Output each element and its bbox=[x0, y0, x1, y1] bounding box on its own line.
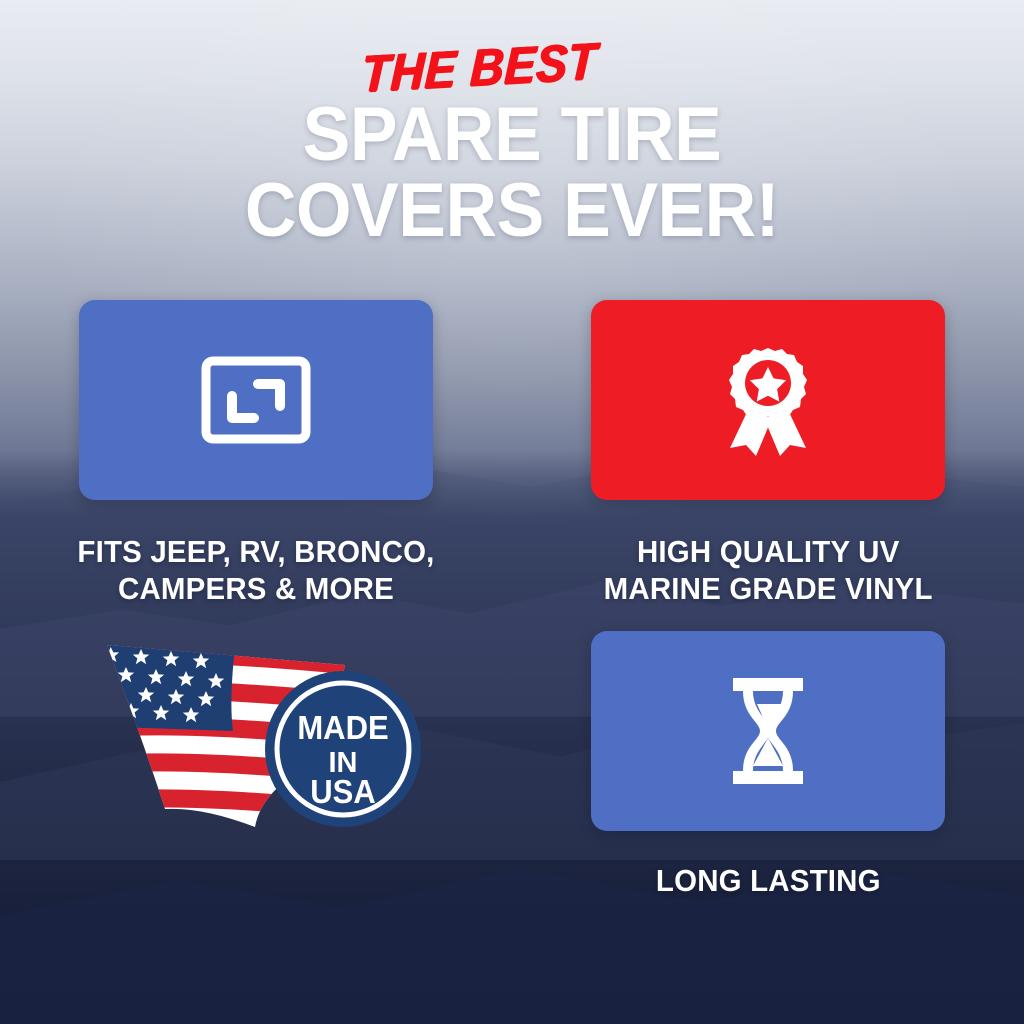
feature-caption-high-quality-vinyl: HIGH QUALITY UV MARINE GRADE VINYL bbox=[603, 534, 932, 607]
badge-line-3: USA bbox=[310, 773, 375, 810]
feature-high-quality-vinyl: HIGH QUALITY UV MARINE GRADE VINYL bbox=[512, 300, 1024, 607]
caption-line-1: FITS JEEP, RV, BRONCO, bbox=[77, 534, 434, 569]
feature-caption-long-lasting: LONG LASTING bbox=[656, 863, 881, 900]
headline-line-1: SPARE TIRE bbox=[31, 100, 994, 170]
feature-long-lasting: LONG LASTING bbox=[512, 631, 1024, 900]
headline-kicker: THE BEST bbox=[361, 35, 599, 100]
made-in-usa-badge-icon: MADE IN USA bbox=[263, 669, 423, 829]
caption-line-2: MARINE GRADE VINYL bbox=[603, 571, 932, 606]
resize-frame-icon bbox=[200, 355, 312, 445]
feature-grid: FITS JEEP, RV, BRONCO, CAMPERS & MORE HI… bbox=[0, 300, 1024, 900]
caption-line-2: CAMPERS & MORE bbox=[118, 571, 394, 606]
made-in-usa-group: MADE IN USA bbox=[79, 631, 433, 831]
award-ribbon-icon bbox=[716, 344, 820, 456]
headline-block: THE BEST SPARE TIRE COVERS EVER! bbox=[0, 44, 1024, 246]
feature-fits-vehicles: FITS JEEP, RV, BRONCO, CAMPERS & MORE bbox=[0, 300, 512, 607]
caption-line-1: LONG LASTING bbox=[656, 863, 881, 898]
feature-made-in-usa: MADE IN USA bbox=[0, 631, 512, 900]
feature-card-long-lasting bbox=[591, 631, 945, 831]
badge-line-1: MADE bbox=[297, 709, 388, 746]
feature-card-high-quality-vinyl bbox=[591, 300, 945, 500]
feature-card-fits-vehicles bbox=[79, 300, 433, 500]
promo-poster: THE BEST SPARE TIRE COVERS EVER! FITS JE… bbox=[0, 0, 1024, 1024]
hourglass-icon bbox=[727, 676, 809, 786]
headline-line-2: COVERS EVER! bbox=[31, 176, 994, 246]
feature-caption-fits-vehicles: FITS JEEP, RV, BRONCO, CAMPERS & MORE bbox=[77, 534, 434, 607]
caption-line-1: HIGH QUALITY UV bbox=[637, 534, 899, 569]
